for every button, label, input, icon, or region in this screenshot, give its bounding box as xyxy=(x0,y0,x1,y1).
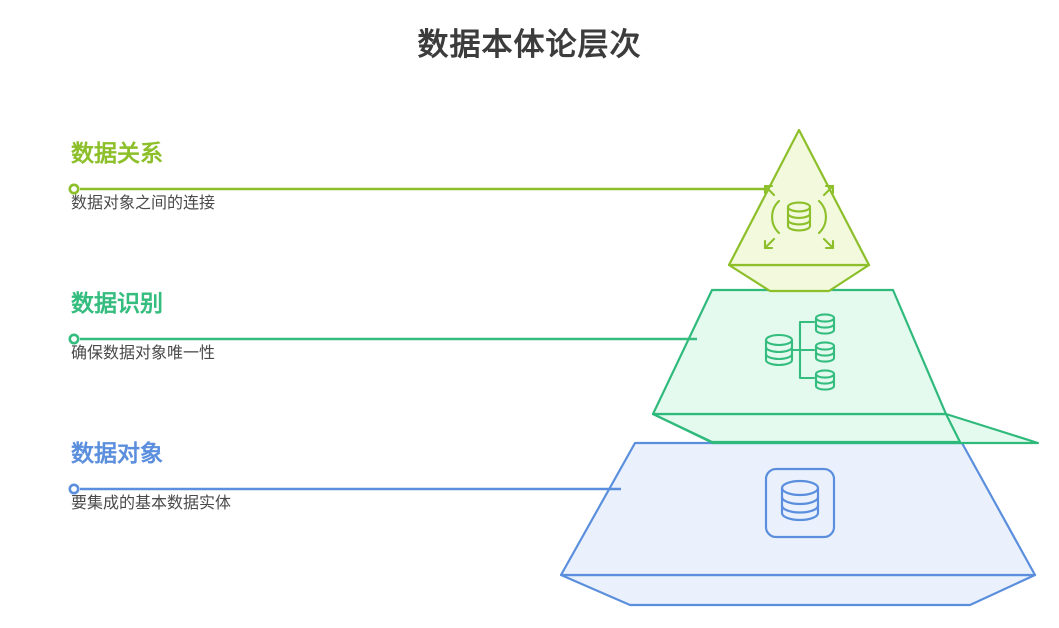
connector-identification xyxy=(70,335,697,343)
connector-dot-identification xyxy=(70,335,78,343)
level-objects-front-face xyxy=(561,443,1035,575)
connector-relations xyxy=(70,185,767,193)
connector-objects xyxy=(70,485,621,493)
pyramid-level-objects[interactable] xyxy=(561,443,1035,605)
connector-dot-objects xyxy=(70,485,78,493)
pyramid-level-identification[interactable] xyxy=(653,290,1038,443)
level-identification-base-slab-inner xyxy=(653,414,960,442)
level-relations-front-face xyxy=(729,130,869,265)
pyramid-level-relations[interactable] xyxy=(729,130,869,291)
level-objects-base-slab xyxy=(561,575,1035,605)
pyramid-diagram xyxy=(0,0,1059,628)
connector-dot-relations xyxy=(70,185,78,193)
level-relations-base-slab xyxy=(729,265,869,291)
